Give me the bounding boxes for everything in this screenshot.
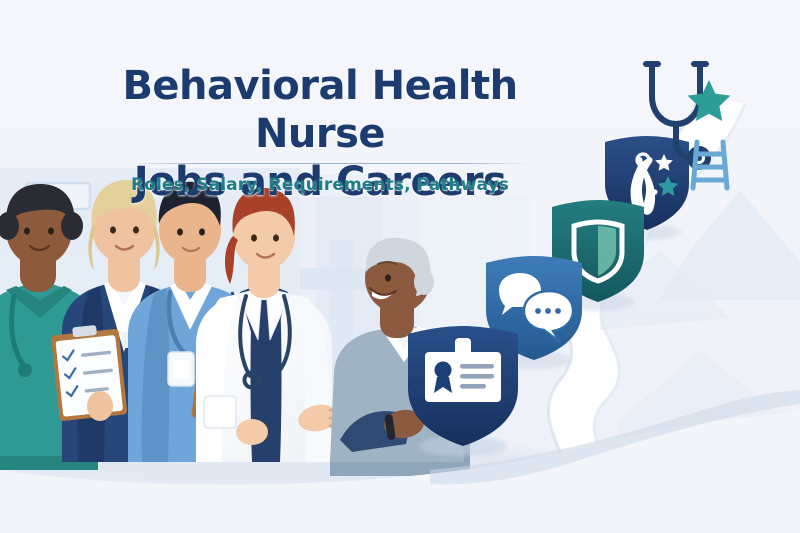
poster-canvas: Behavioral Health Nurse Jobs and Careers…	[0, 0, 800, 533]
page-subtitle: Roles, Salary, Requirements, Pathways	[60, 175, 580, 195]
title-line-1: Behavioral Health Nurse	[60, 62, 580, 158]
title-divider	[128, 163, 532, 164]
